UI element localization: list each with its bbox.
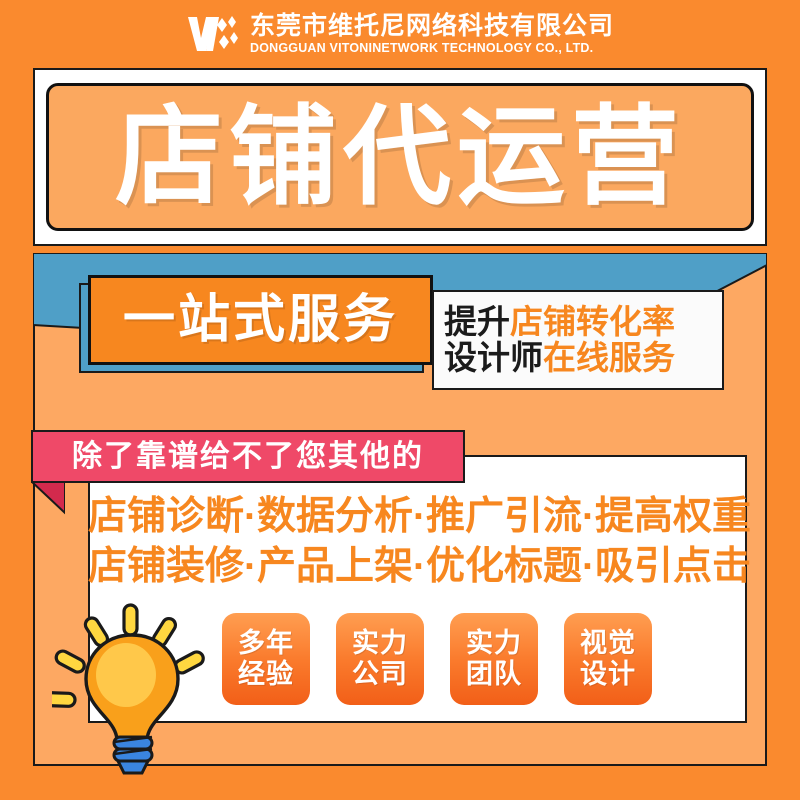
poster-root: 东莞市维托尼网络科技有限公司 DONGGUAN VITONINETWORK TE… <box>0 0 800 800</box>
claim-box: 提升店铺转化率 设计师在线服务 <box>432 290 724 390</box>
feature-chip-row: 多年 经验 实力 公司 实力 团队 视觉 设计 <box>222 613 722 705</box>
company-name-cn: 东莞市维托尼网络科技有限公司 <box>250 14 614 39</box>
title-panel: 店铺代运营 <box>46 83 754 231</box>
w-diamond-logo-icon <box>186 14 238 54</box>
feature-chip-experience[interactable]: 多年 经验 <box>222 613 310 705</box>
feature-chip-company[interactable]: 实力 公司 <box>336 613 424 705</box>
slogan-ribbon: 除了靠谱给不了您其他的 <box>31 430 465 483</box>
claim-line-2-highlight: 在线服务 <box>543 339 675 376</box>
feature-chip-company-line1: 实力 <box>352 628 408 659</box>
claim-line-2-plain: 设计师 <box>444 339 543 376</box>
brand-name-block: 东莞市维托尼网络科技有限公司 DONGGUAN VITONINETWORK TE… <box>250 14 614 55</box>
ribbon-tail-icon <box>31 481 65 515</box>
claim-line-1-plain: 提升 <box>444 303 510 340</box>
feature-chip-design-line2: 设计 <box>580 659 636 690</box>
page-title: 店铺代运营 <box>115 103 685 211</box>
one-stop-badge: 一站式服务 <box>88 275 433 365</box>
feature-chip-team-line2: 团队 <box>466 659 522 690</box>
services-line-1: 店铺诊断·数据分析·推广引流·提高权重 <box>88 492 747 542</box>
feature-chip-team-line1: 实力 <box>466 628 522 659</box>
feature-chip-team[interactable]: 实力 团队 <box>450 613 538 705</box>
claim-line-2: 设计师在线服务 <box>444 340 722 376</box>
brand-header: 东莞市维托尼网络科技有限公司 DONGGUAN VITONINETWORK TE… <box>0 0 800 68</box>
feature-chip-experience-line1: 多年 <box>238 628 294 659</box>
feature-chip-company-line2: 公司 <box>352 659 408 690</box>
claim-line-1-highlight: 店铺转化率 <box>510 303 675 340</box>
feature-chip-design-line1: 视觉 <box>580 628 636 659</box>
company-name-en: DONGGUAN VITONINETWORK TECHNOLOGY CO., L… <box>250 42 614 55</box>
feature-chip-experience-line2: 经验 <box>238 659 294 690</box>
one-stop-badge-label: 一站式服务 <box>123 294 398 346</box>
lightbulb-icon <box>52 603 212 775</box>
slogan-text: 除了靠谱给不了您其他的 <box>72 442 424 472</box>
claim-line-1: 提升店铺转化率 <box>444 304 722 340</box>
services-line-2: 店铺装修·产品上架·优化标题·吸引点击 <box>88 542 747 592</box>
services-list: 店铺诊断·数据分析·推广引流·提高权重 店铺装修·产品上架·优化标题·吸引点击 <box>88 492 747 592</box>
feature-chip-design[interactable]: 视觉 设计 <box>564 613 652 705</box>
